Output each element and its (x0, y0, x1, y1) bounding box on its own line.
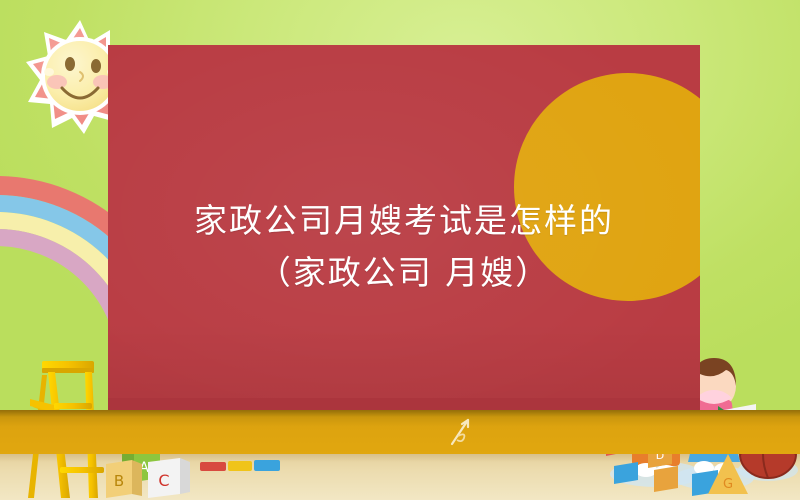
amber-band-shadow (0, 410, 800, 417)
toy-block-blue (254, 460, 280, 471)
banner-image: A B C (0, 0, 800, 500)
banner-title-line-1: 家政公司月嫂考试是怎样的 (122, 195, 686, 247)
decorative-arrow-icon (448, 416, 474, 446)
svg-text:C: C (158, 471, 169, 490)
svg-text:B: B (114, 472, 124, 490)
toy-block-yellow (228, 461, 252, 471)
block-b: B (106, 460, 142, 498)
block-c: C (148, 458, 190, 498)
banner-title: 家政公司月嫂考试是怎样的 （家政公司 月嫂） (108, 195, 700, 299)
banner-title-line-2: （家政公司 月嫂） (122, 247, 686, 299)
title-panel: 家政公司月嫂考试是怎样的 （家政公司 月嫂） (108, 45, 700, 410)
svg-text:G: G (723, 477, 733, 492)
toy-block-red (200, 462, 226, 471)
